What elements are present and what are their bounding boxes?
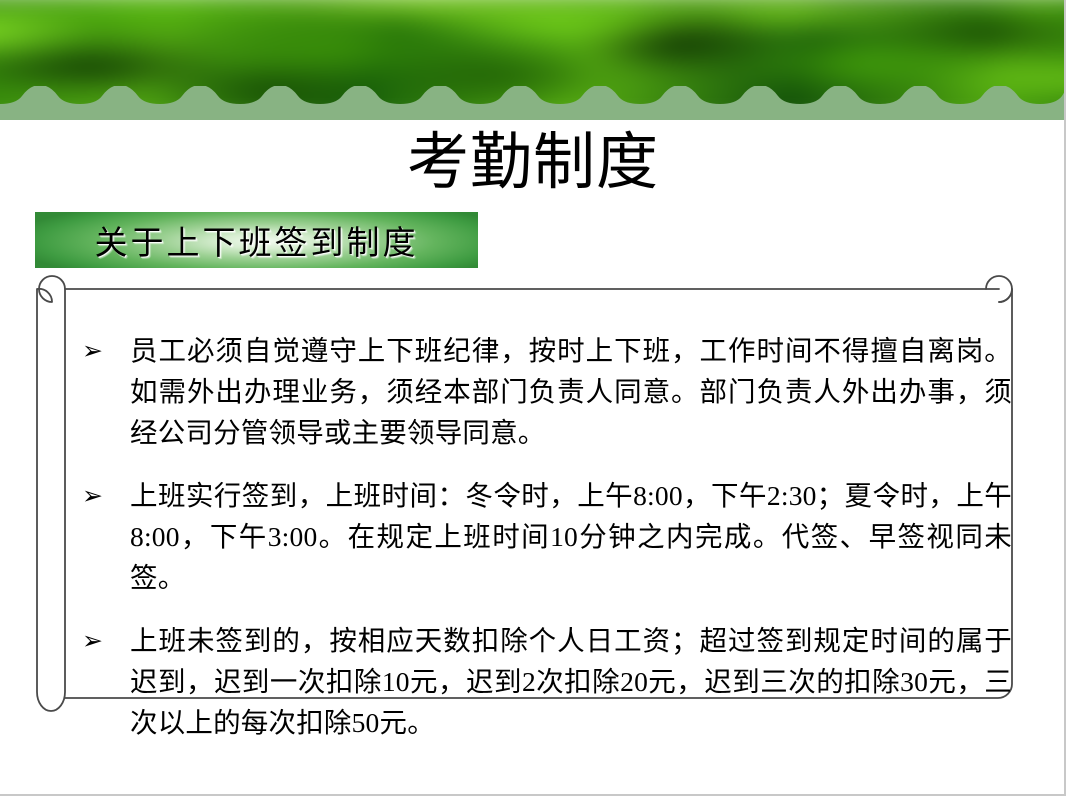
section-banner: 关于上下班签到制度 [35,212,478,268]
page-title: 考勤制度 [0,124,1066,200]
presentation-slide: 考勤制度 关于上下班签到制度 ➢ 员工必须自觉遵守上下班纪律，按时上下班，工作时… [0,0,1066,796]
list-item-text: 上班实行签到，上班时间：冬令时，上午8:00，下午2:30；夏令时，上午8:00… [130,475,1012,598]
bullet-list: ➢ 员工必须自觉遵守上下班纪律，按时上下班，工作时间不得擅自离岗。如需外出办理业… [72,330,1012,743]
bullet-arrow-icon: ➢ [72,330,130,371]
list-item-text: 员工必须自觉遵守上下班纪律，按时上下班，工作时间不得擅自离岗。如需外出办理业务，… [130,330,1012,453]
bullet-arrow-icon: ➢ [72,475,130,516]
list-item: ➢ 员工必须自觉遵守上下班纪律，按时上下班，工作时间不得擅自离岗。如需外出办理业… [72,330,1012,453]
scallop-edge-icon [0,86,1066,120]
list-item: ➢ 上班未签到的，按相应天数扣除个人日工资；超过签到规定时间的属于迟到，迟到一次… [72,620,1012,743]
header-banner [0,0,1066,120]
list-item: ➢ 上班实行签到，上班时间：冬令时，上午8:00，下午2:30；夏令时，上午8:… [72,475,1012,598]
bullet-arrow-icon: ➢ [72,620,130,661]
section-banner-label: 关于上下班签到制度 [35,212,478,268]
list-item-text: 上班未签到的，按相应天数扣除个人日工资；超过签到规定时间的属于迟到，迟到一次扣除… [130,620,1012,743]
